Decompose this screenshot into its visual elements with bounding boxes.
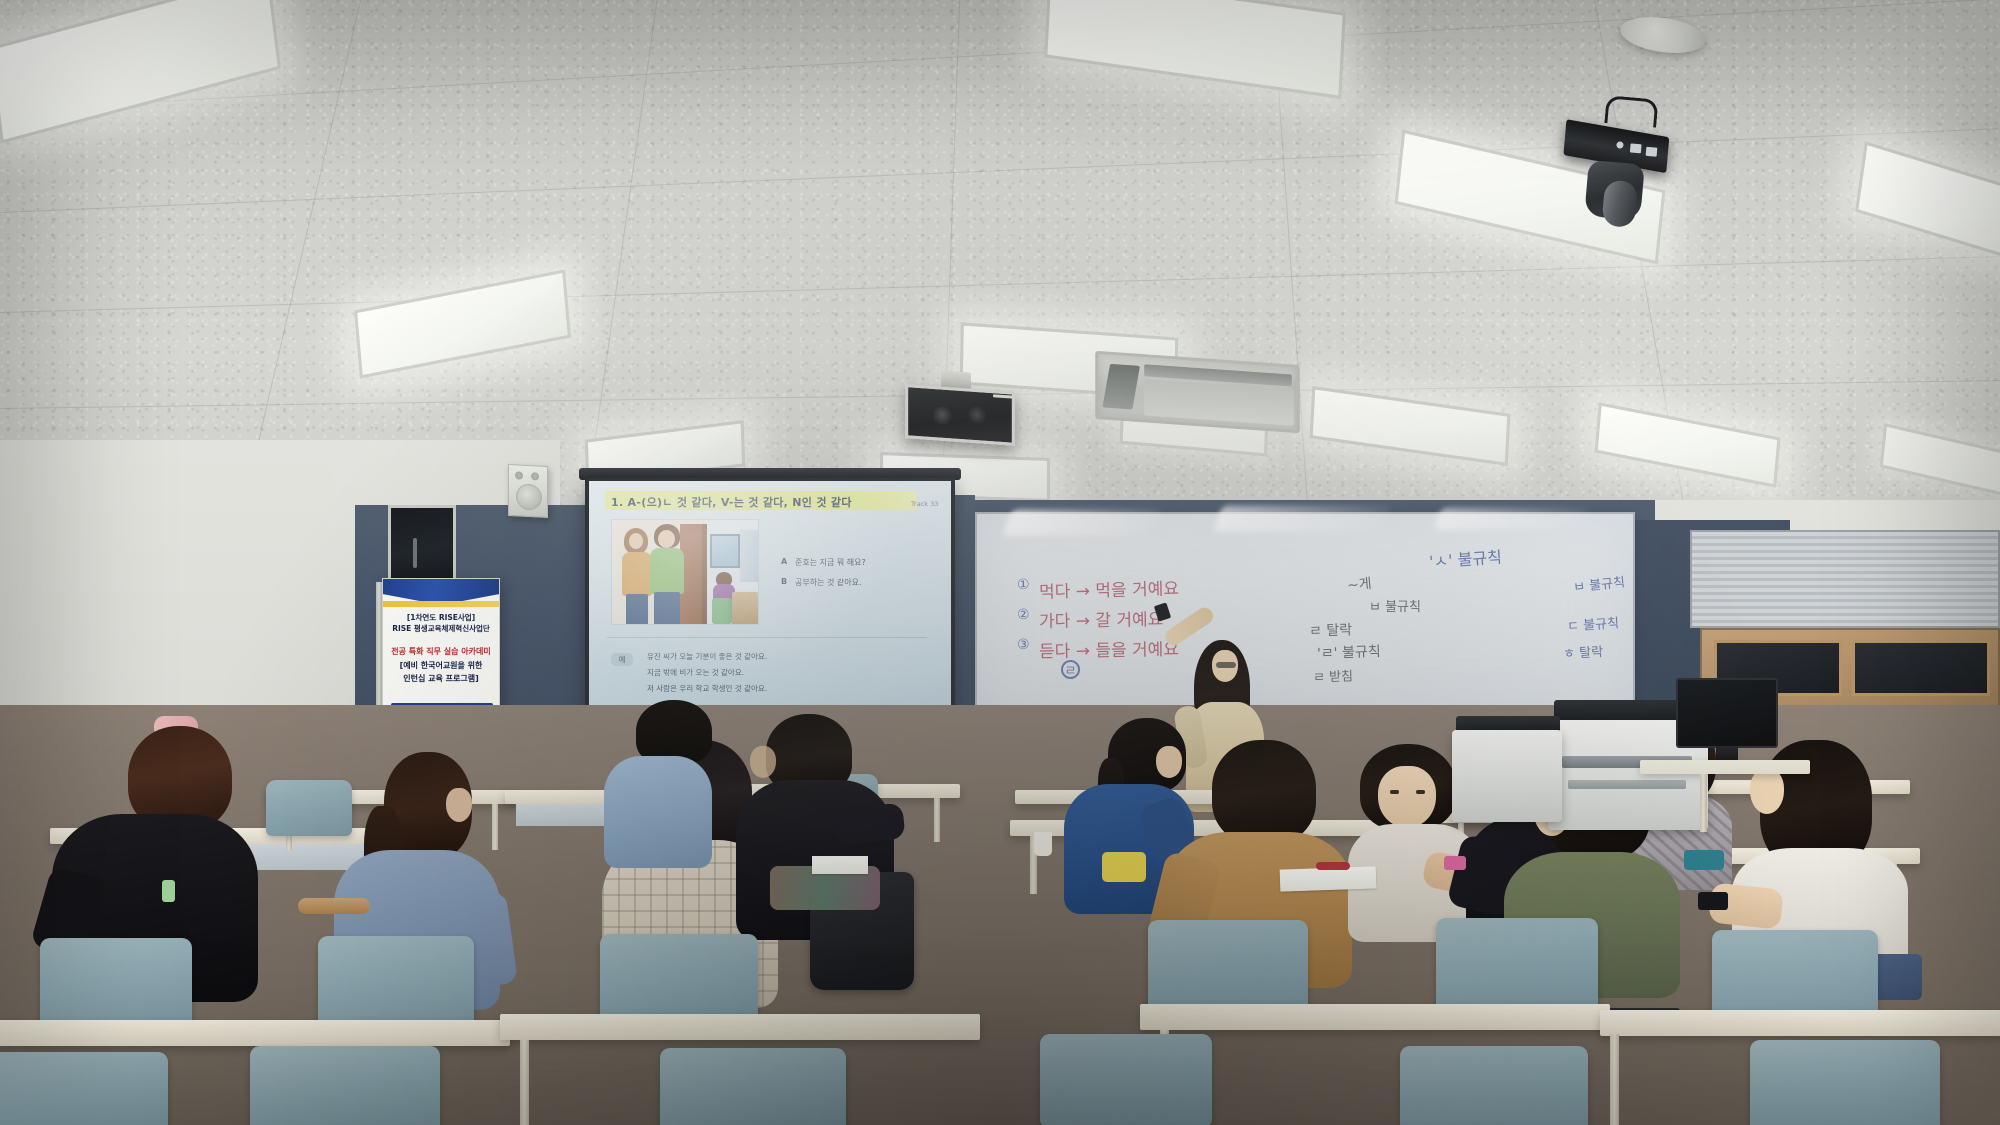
slide-dialog-speaker-b: B (781, 577, 787, 586)
chair (1750, 1040, 1940, 1125)
whiteboard-side-note-1: ㅂ 불규칙 (1572, 571, 1626, 595)
whiteboard-note-num-1: ① (1017, 577, 1030, 593)
eraser (1444, 856, 1466, 870)
whiteboard-side-note-3: ㅎ 탈락 (1563, 641, 1604, 662)
slide-example-1: 유진 씨가 오늘 기분이 좋은 것 같아요. (647, 651, 767, 662)
student-8-face (1378, 766, 1436, 828)
whiteboard-circled-mark: ㄹ (1061, 660, 1080, 679)
chair (1400, 1046, 1588, 1125)
blue-pouch (1684, 850, 1724, 870)
instructor-raised-arm (1162, 604, 1216, 648)
slide-dialog-line-a: 준호는 지금 뭐 해요? (795, 557, 866, 568)
instructor-glasses (1216, 662, 1236, 668)
slide-dialog-speaker-a: A (781, 557, 787, 566)
desk (1140, 1004, 1610, 1030)
banner-header-line-2: RISE 평생교육체제혁신사업단 (383, 623, 499, 634)
window-blinds (1690, 530, 2000, 628)
ceiling-air-vent (1095, 351, 1300, 433)
person-student-5 (604, 700, 732, 870)
doorway-opening (388, 505, 456, 587)
whiteboard-note-num-3: ③ (1017, 637, 1030, 653)
student-7-hair (1212, 740, 1316, 844)
desk (500, 1014, 980, 1040)
chair (1040, 1034, 1212, 1125)
water-bottle (162, 880, 175, 902)
slide-illustration (611, 519, 759, 625)
whiteboard-note-2: 가다 → 갈 거예요 (1039, 605, 1164, 632)
classroom-photo-scene: [1차연도 RISE사업] RISE 평생교육체제혁신사업단 전공 특화 직무 … (0, 0, 2000, 1125)
slide-example-badge: 예 (611, 653, 633, 666)
screen-surface: 1. A-(으)ㄴ 것 같다, V-는 것 같다, N인 것 같다 Track … (589, 481, 951, 729)
whiteboard-right-note-1: 'ㄹ' 불규칙 (1317, 641, 1381, 663)
whiteboard-note-3: 듣다 → 들을 거예요 (1039, 635, 1179, 662)
paper-cup (1034, 832, 1052, 856)
banner-subtitle-line-2: 인턴십 교육 프로그램] (383, 673, 499, 684)
wall-speaker (508, 464, 548, 518)
yellow-pouch (1102, 852, 1146, 882)
desk (0, 1020, 510, 1046)
printer-secondary (1452, 716, 1562, 824)
red-marker (1316, 862, 1350, 870)
slide-example-2: 지금 밖에 비가 오는 것 같아요. (647, 667, 744, 678)
worksheet (1280, 866, 1377, 891)
whiteboard-note-num-2: ② (1017, 607, 1030, 623)
chair (250, 1046, 440, 1125)
banner-subtitle-line-1: [예비 한국어교원을 위한 (383, 660, 499, 671)
chair (660, 1048, 846, 1125)
whiteboard-note-1: 먹다 → 먹을 거예요 (1039, 574, 1180, 603)
pencil-case (298, 898, 370, 914)
student-5-hair (636, 700, 712, 764)
ceiling-projector (905, 384, 1015, 452)
banner-subtitle-red: 전공 특화 직무 실습 아카데미 (383, 646, 499, 657)
whiteboard-right-note-3: ㄹ 받침 (1313, 665, 1354, 685)
desk (1600, 1010, 2000, 1036)
camera-lens-barrel (1601, 179, 1638, 228)
slide-divider (607, 637, 927, 638)
slide-title: 1. A-(으)ㄴ 것 같다, V-는 것 같다, N인 것 같다 (611, 494, 852, 510)
slide-dialog-line-b: 공부하는 것 같아요. (795, 577, 862, 588)
chair (0, 1052, 168, 1125)
monitor (1676, 678, 1778, 770)
smartphone (1698, 892, 1728, 910)
whiteboard-right-top-note: 'ㅅ' 불규칙 (1428, 543, 1502, 572)
banner-header-line-1: [1차연도 RISE사업] (383, 612, 499, 623)
paper-sheet (812, 856, 868, 874)
projection-screen: 1. A-(으)ㄴ 것 같다, V-는 것 같다, N인 것 같다 Track … (585, 478, 955, 736)
slide-track-label: Track 33 (911, 500, 938, 508)
slide-example-3: 저 사람은 우리 학교 학생인 것 같아요. (647, 683, 767, 694)
whiteboard-side-note-2: ㄷ 불규칙 (1566, 612, 1619, 635)
student-5-shirt (604, 756, 712, 868)
whiteboard: 먹다 → 먹을 거예요 ① 가다 → 갈 거예요 ② 듣다 → 들을 거예요 ③… (975, 512, 1635, 727)
lectern-podium (1640, 760, 1810, 774)
ptz-camera (1553, 113, 1672, 232)
whiteboard-right-note-2: ㄹ 탈락 (1309, 619, 1353, 640)
